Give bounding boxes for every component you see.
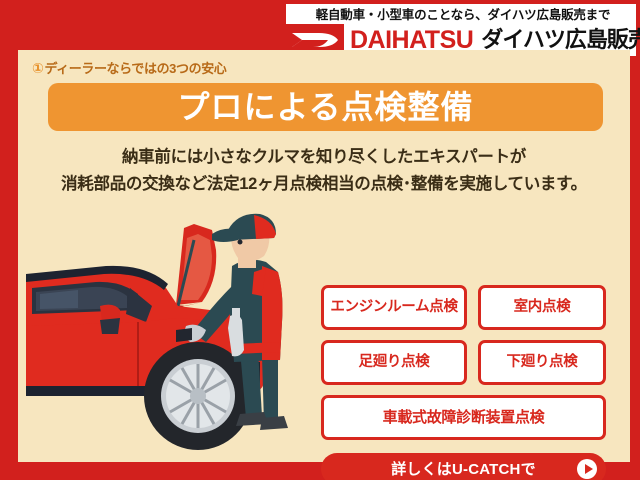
check-item-underbody[interactable]: 下廻り点検 [478,340,606,385]
check-item-obd-diagnostics[interactable]: 車載式故障診断装置点検 [321,395,606,440]
section-label-text: ディーラーならではの3つの安心 [44,61,226,76]
check-item-label: 足廻り点検 [359,355,430,370]
section-number: ① [32,60,43,76]
dealer-name: ダイハツ広島販売 [481,29,640,51]
lede-paragraph: 納車前には小さなクルマを知り尽くしたエキスパートが 消耗部品の交換など法定12ヶ… [38,144,610,198]
lede-line-2: 消耗部品の交換など法定12ヶ月点検相当の点検･整備を実施しています。 [38,171,610,198]
section-label: ①ディーラーならではの3つの安心 [32,58,226,77]
title-banner: プロによる点検整備 [48,83,603,131]
check-item-label: 室内点検 [514,300,571,315]
check-item-label: エンジンルーム点検 [330,300,457,315]
mechanic-inspecting-car-illustration [26,210,316,458]
content-panel: ①ディーラーならではの3つの安心 プロによる点検整備 納車前には小さなクルマを知… [18,50,630,462]
check-item-label: 車載式故障診断装置点検 [383,410,545,425]
slide-frame: 軽自動車・小型車のことなら、ダイハツ広島販売まで DAIHATSU ダイハツ広島… [0,0,640,480]
check-item-engine-room[interactable]: エンジンルーム点検 [321,285,467,330]
check-item-suspension[interactable]: 足廻り点検 [321,340,467,385]
play-arrow-icon [577,459,597,479]
cta-button-u-catch[interactable]: 詳しくはU-CATCHで [321,453,606,480]
header-tagline: 軽自動車・小型車のことなら、ダイハツ広島販売まで [294,6,632,24]
cta-label: 詳しくはU-CATCHで [391,462,536,477]
header-bar: 軽自動車・小型車のことなら、ダイハツ広島販売まで DAIHATSU ダイハツ広島… [286,4,636,56]
check-item-interior[interactable]: 室内点検 [478,285,606,330]
brand-wordmark: DAIHATSU [350,28,473,53]
page-title: プロによる点検整備 [177,91,473,123]
check-item-label: 下廻り点検 [507,355,578,370]
lede-line-1: 納車前には小さなクルマを知り尽くしたエキスパートが [38,144,610,171]
